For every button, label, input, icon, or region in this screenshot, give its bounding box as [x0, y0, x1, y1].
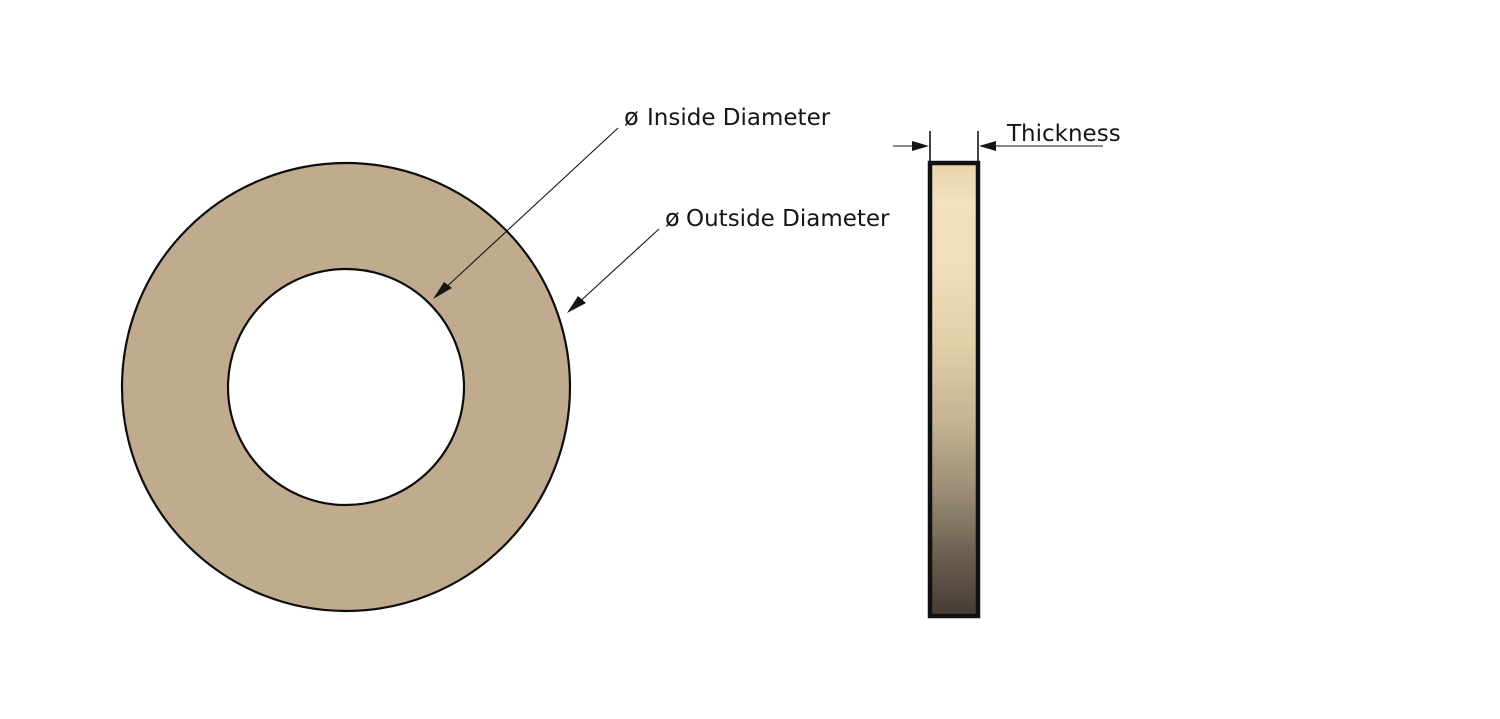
outside-diameter-label: Outside Diameter: [686, 206, 890, 232]
thickness-arrowhead-right-icon: [979, 141, 996, 151]
outside-diameter-leader-line: [575, 229, 659, 306]
thickness-label: Thickness: [1006, 121, 1121, 147]
inside-diameter-phi-icon: ø: [624, 103, 639, 131]
washer-edge-profile-rect: [930, 163, 978, 616]
outside-diameter-leader: [567, 229, 659, 313]
outside-diameter-phi-icon: ø: [665, 204, 680, 232]
diagram-canvas: ø Inside Diameter ø Outside Diameter Thi…: [0, 0, 1500, 719]
washer-inner-hole-circle: [228, 269, 464, 505]
inside-diameter-label: Inside Diameter: [647, 105, 831, 131]
thickness-arrowhead-left-icon: [912, 141, 929, 151]
washer-side-view: [930, 163, 978, 616]
washer-top-view: [122, 163, 570, 611]
washer-technical-drawing: ø Inside Diameter ø Outside Diameter Thi…: [0, 0, 1500, 719]
